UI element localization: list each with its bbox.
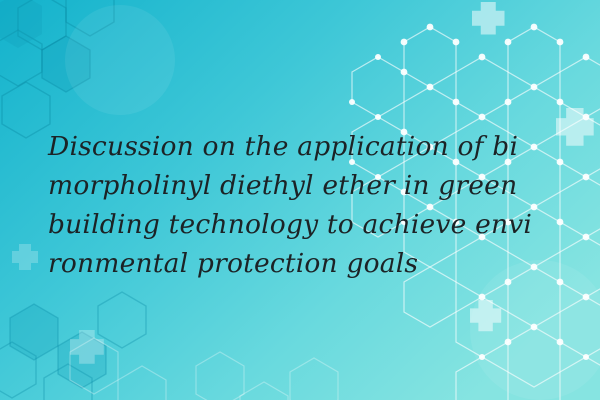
page-title: Discussion on the application of bimorph…: [48, 127, 542, 283]
banner-container: Discussion on the application of bimorph…: [0, 0, 600, 400]
title-layer: Discussion on the application of bimorph…: [0, 0, 600, 400]
